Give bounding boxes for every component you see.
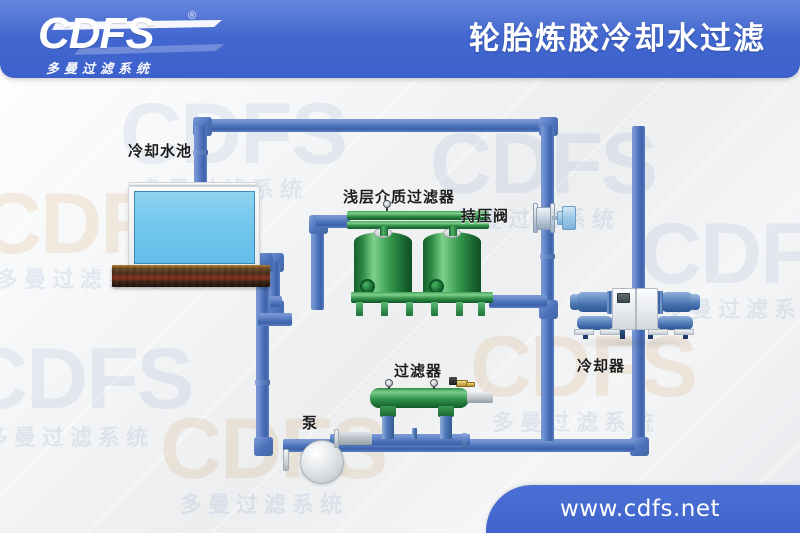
cooler-foot [674,329,694,335]
logo-subtitle: 多曼过滤系统 [46,58,154,77]
label-shallow-media-filter: 浅层介质过滤器 [343,186,455,207]
pipe-filter-inlet [316,215,350,228]
pipe-filter-inlet-riser [311,226,324,310]
filter-lower-manifold [351,292,493,303]
pump-motor [338,432,372,445]
pressure-gauge-icon [383,200,391,208]
cooler-leg [620,330,625,339]
label-cooler: 冷却器 [577,355,625,376]
label-pressure-holding-valve: 持压阀 [461,205,509,226]
manifold-leg [478,302,485,316]
watermark-subtitle: 多曼过滤系统 [180,487,348,519]
page-footer: www.cdfs.net [486,485,800,533]
pipe-top-main [196,119,548,132]
manifold-leg [406,302,413,316]
tank-neck [380,226,388,236]
filter-drain-stub [412,428,417,439]
watermark-cdfs: CDFS [640,205,800,304]
website-url[interactable]: www.cdfs.net [560,496,720,522]
watermark-cdfs: CDFS [120,85,346,184]
pressure-gauge-icon [430,379,438,387]
brand-logo[interactable]: CDFS ® 多曼过滤系统 [38,12,268,70]
label-filter: 过滤器 [394,360,442,381]
pipe-cooler-riser [632,126,645,441]
valve-actuator [562,206,576,230]
page-header: CDFS ® 多曼过滤系统 轮胎炼胶冷却水过滤 [0,0,800,78]
logo-wordmark: CDFS [38,12,154,56]
filter-leg [382,416,394,439]
label-cooling-pool: 冷却水池 [128,140,192,161]
cooler-foot [600,329,620,335]
filter-valve-port [466,382,475,387]
pipe-mid-branch [258,313,292,326]
pipe-collar [255,380,270,385]
watermark-subtitle: 多曼过滤系统 [0,420,154,452]
diagram-page: CDFS 多曼过滤系统 CDFS 多曼过滤系统 CDFS 多曼过滤系统 CDFS… [0,0,800,533]
label-pump: 泵 [302,412,318,433]
pump-suction-flange [283,449,289,471]
cooler-shell-left [577,292,611,312]
tank-neck [449,226,457,236]
ground-strip [112,265,270,287]
pipe-collar [193,150,208,155]
filter-valve-knob[interactable] [449,377,457,385]
filter-leg [440,416,452,439]
cooler-display-screen [617,293,630,303]
pump-discharge-flange [334,429,339,448]
cooler-lower-shell-left [577,316,613,330]
manifold-leg [456,302,463,316]
pipe-stub [270,296,282,309]
pipe-elbow-left-bottom [254,437,273,456]
cooler-foot [574,329,594,335]
manifold-leg [381,302,388,316]
cooler-end-cap [690,294,700,310]
manifold-leg [431,302,438,316]
cooling-pool-water [134,191,255,264]
pipe-valve-drop [541,300,554,441]
filter-vessel-body [370,388,469,408]
cooler-shell-right [661,292,693,312]
page-title: 轮胎炼胶冷却水过滤 [469,16,766,62]
pipe-collar [462,433,467,448]
pressure-gauge-icon [385,379,393,387]
registered-trademark-icon: ® [188,10,196,22]
filter-outlet-nose [467,392,493,403]
pipe-filter-outlet [489,295,547,308]
cooler-foot [648,329,668,335]
cooler-cabinet-door[interactable] [636,288,658,330]
valve-actuator-boss [557,211,563,225]
cooler-lower-shell-right [657,316,693,330]
manifold-leg [356,302,363,316]
pipe-collar [540,254,555,259]
